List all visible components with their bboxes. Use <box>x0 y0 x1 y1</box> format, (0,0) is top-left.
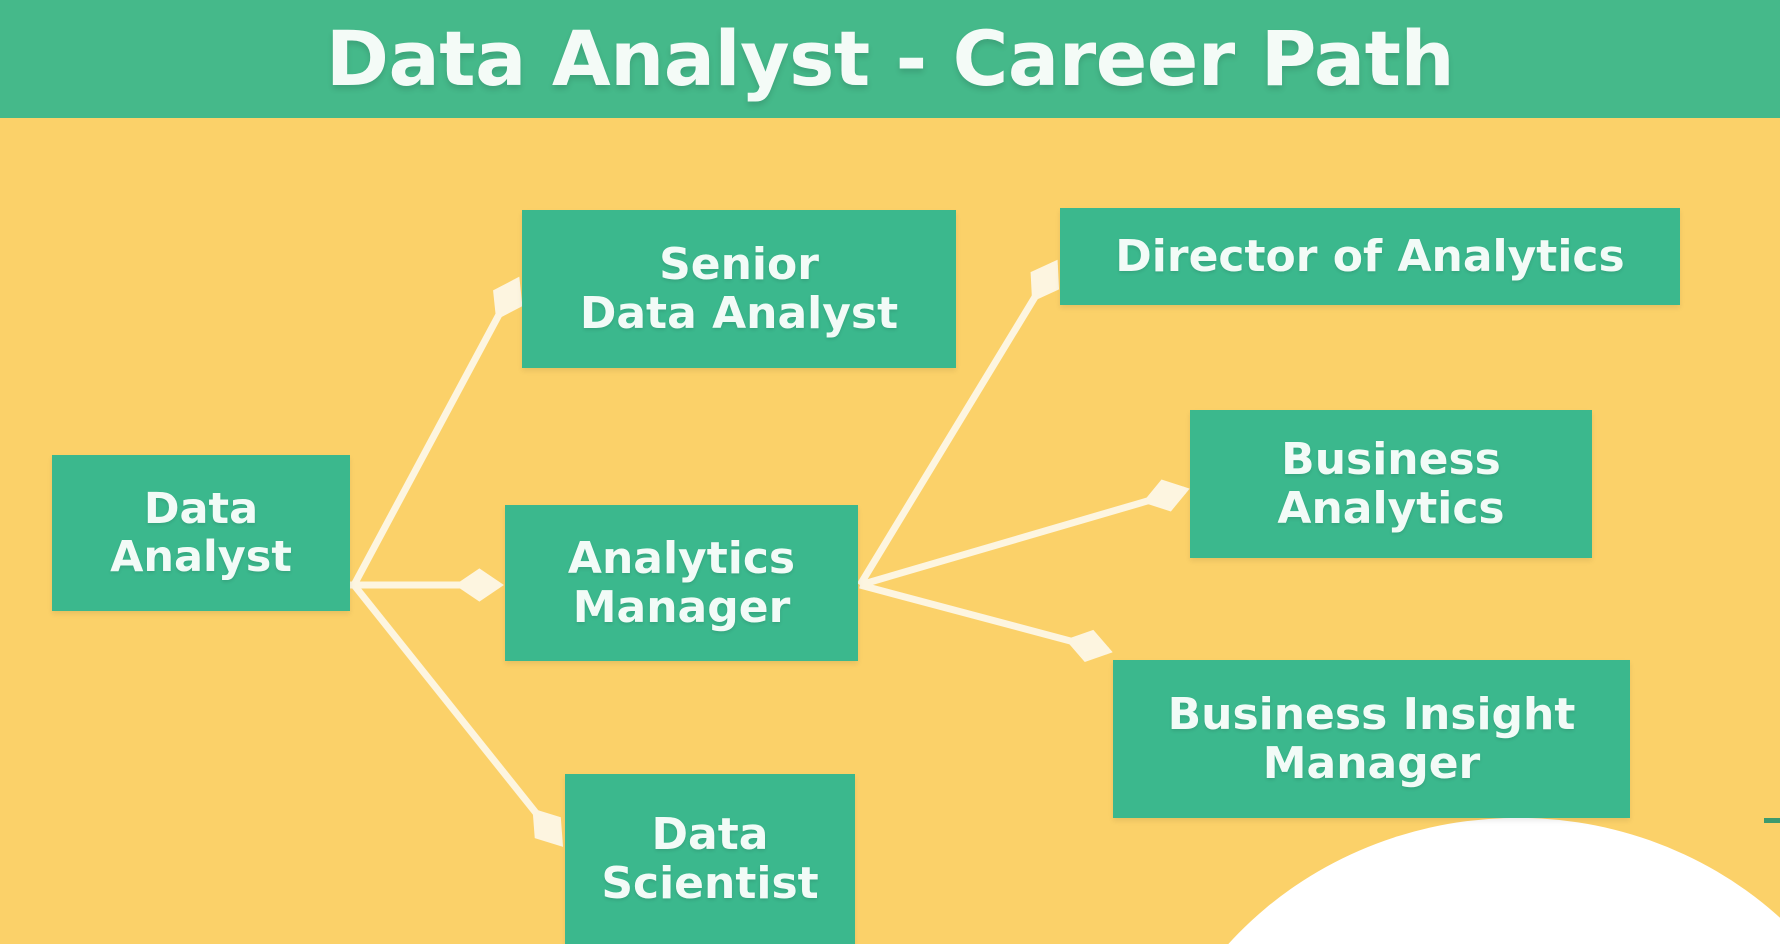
edge-data-analyst-to-senior-data-analyst <box>354 281 517 585</box>
node-data-analyst[interactable]: Data Analyst <box>52 455 350 611</box>
node-data-scientist[interactable]: Data Scientist <box>565 774 855 944</box>
diagram-canvas: Data Analyst Senior Data Analyst Analyti… <box>0 118 1780 944</box>
node-analytics-manager-label: Analytics Manager <box>558 534 805 633</box>
node-director-of-analytics-label: Director of Analytics <box>1105 232 1634 281</box>
node-data-scientist-label: Data Scientist <box>591 810 828 909</box>
node-analytics-manager[interactable]: Analytics Manager <box>505 505 858 661</box>
page-title: Data Analyst - Career Path <box>326 21 1454 97</box>
edge-analytics-manager-to-business-insight-manager <box>860 585 1108 651</box>
node-director-of-analytics[interactable]: Director of Analytics <box>1060 208 1680 305</box>
node-business-insight-manager[interactable]: Business Insight Manager <box>1113 660 1630 818</box>
header-banner: Data Analyst - Career Path <box>0 0 1780 118</box>
career-path-infographic: Data Analyst - Career Path <box>0 0 1780 944</box>
node-data-analyst-label: Data Analyst <box>100 485 302 581</box>
node-business-insight-manager-label: Business Insight Manager <box>1158 690 1586 789</box>
node-business-analytics[interactable]: Business Analytics <box>1190 410 1592 558</box>
node-business-analytics-label: Business Analytics <box>1267 435 1514 534</box>
node-senior-data-analyst[interactable]: Senior Data Analyst <box>522 210 956 368</box>
node-senior-data-analyst-label: Senior Data Analyst <box>570 240 908 339</box>
